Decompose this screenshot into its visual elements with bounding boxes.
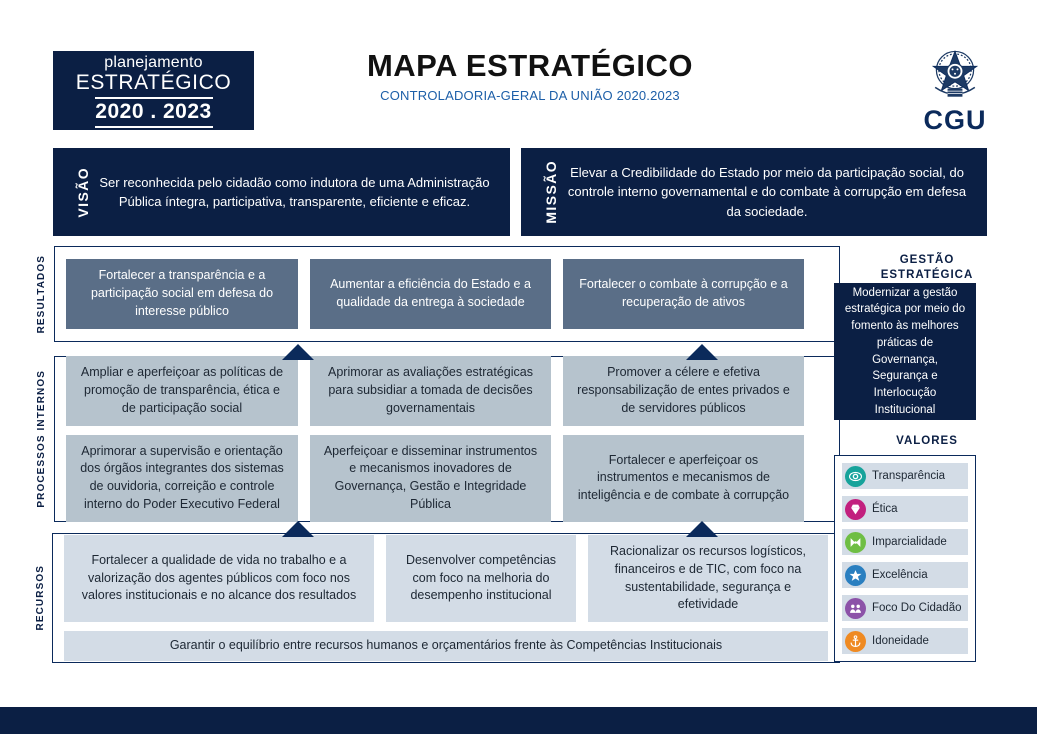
balance-icon bbox=[845, 532, 866, 553]
gestao-estrategica-text: Modernizar a gestão estratégica por meio… bbox=[843, 285, 967, 418]
valor-label: Excelência bbox=[872, 569, 928, 581]
logo-line-planejamento: planejamento bbox=[104, 55, 202, 72]
perspective-frame-processos: Ampliar e aperfeiçoar as políticas de pr… bbox=[54, 356, 840, 522]
vision-mission-band: VISÃO Ser reconhecida pelo cidadão como … bbox=[0, 148, 1037, 238]
objective-box-full-width: Garantir o equilíbrio entre recursos hum… bbox=[64, 631, 828, 661]
valor-item: Transparência bbox=[842, 463, 968, 489]
logo-rule-top bbox=[95, 97, 213, 99]
arrow-up-icon bbox=[686, 521, 718, 537]
perspective-frame-recursos: Fortalecer a qualidade de vida no trabal… bbox=[52, 533, 840, 663]
perspective-label-text: RESULTADOS bbox=[36, 255, 47, 333]
footer-bar bbox=[0, 707, 1037, 734]
perspective-frame-resultados: Fortalecer a transparência e a participa… bbox=[54, 246, 840, 342]
valores-list: TransparênciaÉticaImparcialidadeExcelênc… bbox=[834, 455, 976, 662]
gestao-estrategica-heading: GESTÃO ESTRATÉGICA bbox=[849, 253, 1005, 283]
page-subtitle: CONTROLADORIA-GERAL DA UNIÃO 2020.2023 bbox=[270, 88, 790, 103]
objective-box: Racionalizar os recursos logísticos, fin… bbox=[588, 535, 828, 622]
vision-text: Ser reconhecida pelo cidadão como induto… bbox=[91, 173, 510, 212]
objective-box: Aumentar a eficiência do Estado e a qual… bbox=[310, 259, 551, 328]
objective-box: Ampliar e aperfeiçoar as políticas de pr… bbox=[66, 356, 298, 425]
gestao-heading-line2: ESTRATÉGICA bbox=[849, 268, 1005, 283]
objective-row: Fortalecer a qualidade de vida no trabal… bbox=[64, 535, 828, 622]
mission-text: Elevar a Credibilidade do Estado por mei… bbox=[559, 163, 987, 222]
valor-item: Imparcialidade bbox=[842, 529, 968, 555]
vision-box: VISÃO Ser reconhecida pelo cidadão como … bbox=[53, 148, 510, 236]
eye-icon bbox=[845, 466, 866, 487]
page-header: planejamento ESTRATÉGICO 2020 . 2023 MAP… bbox=[0, 0, 1037, 145]
brazil-coat-of-arms-icon bbox=[924, 44, 986, 106]
objective-row: Ampliar e aperfeiçoar as políticas de pr… bbox=[66, 356, 828, 425]
vision-label: VISÃO bbox=[75, 167, 91, 218]
objective-box: Aprimorar a supervisão e orientação dos … bbox=[66, 435, 298, 522]
objective-box: Aperfeiçoar e disseminar instrumentos e … bbox=[310, 435, 551, 522]
valor-label: Ética bbox=[872, 503, 898, 515]
valor-item: Foco Do Cidadão bbox=[842, 595, 968, 621]
objective-row: Aprimorar a supervisão e orientação dos … bbox=[66, 435, 828, 522]
perspective-label-text: RECURSOS bbox=[35, 565, 46, 630]
valor-label: Transparência bbox=[872, 470, 945, 482]
objective-box: Desenvolver competências com foco na mel… bbox=[386, 535, 576, 622]
anchor-icon bbox=[845, 631, 866, 652]
mission-label: MISSÃO bbox=[543, 160, 559, 224]
perspective-recursos: RECURSOS Fortalecer a qualidade de vida … bbox=[28, 533, 840, 663]
mission-box: MISSÃO Elevar a Credibilidade do Estado … bbox=[521, 148, 987, 236]
strategic-map-page: planejamento ESTRATÉGICO 2020 . 2023 MAP… bbox=[0, 0, 1037, 734]
perspective-label-text: PROCESSOS INTERNOS bbox=[36, 370, 47, 508]
arrow-up-icon bbox=[282, 521, 314, 537]
arrow-up-icon bbox=[686, 344, 718, 360]
perspective-label-resultados: RESULTADOS bbox=[28, 246, 54, 342]
cgu-logo: CGU bbox=[896, 44, 1014, 139]
diamond-icon bbox=[845, 499, 866, 520]
logo-line-years: 2020 . 2023 bbox=[95, 101, 211, 123]
star-icon bbox=[845, 565, 866, 586]
valor-label: Imparcialidade bbox=[872, 536, 947, 548]
objective-box: Fortalecer a qualidade de vida no trabal… bbox=[64, 535, 374, 622]
logo-line-estrategico: ESTRATÉGICO bbox=[76, 72, 232, 94]
valor-label: Idoneidade bbox=[872, 635, 929, 647]
gestao-estrategica-box: Modernizar a gestão estratégica por meio… bbox=[834, 283, 976, 420]
objective-row: Fortalecer a transparência e a participa… bbox=[66, 259, 828, 328]
people-icon bbox=[845, 598, 866, 619]
objective-box: Fortalecer a transparência e a participa… bbox=[66, 259, 298, 328]
valores-heading: VALORES bbox=[849, 434, 1005, 449]
valor-label: Foco Do Cidadão bbox=[872, 602, 962, 614]
perspective-resultados: RESULTADOS Fortalecer a transparência e … bbox=[28, 246, 840, 342]
objective-box: Fortalecer o combate à corrupção e a rec… bbox=[563, 259, 804, 328]
objective-box: Fortalecer e aperfeiçoar os instrumentos… bbox=[563, 435, 804, 522]
planejamento-estrategico-logo: planejamento ESTRATÉGICO 2020 . 2023 bbox=[53, 51, 254, 130]
perspective-label-processos: PROCESSOS INTERNOS bbox=[28, 356, 54, 522]
perspective-processos-internos: PROCESSOS INTERNOS Ampliar e aperfeiçoar… bbox=[28, 356, 840, 522]
valor-item: Idoneidade bbox=[842, 628, 968, 654]
cgu-wordmark: CGU bbox=[924, 107, 987, 134]
objective-box: Promover a célere e efetiva responsabili… bbox=[563, 356, 804, 425]
valor-item: Ética bbox=[842, 496, 968, 522]
page-title: MAPA ESTRATÉGICO bbox=[270, 48, 790, 84]
objective-box: Aprimorar as avaliações estratégicas par… bbox=[310, 356, 551, 425]
logo-rule-bottom bbox=[95, 126, 213, 128]
arrow-up-icon bbox=[282, 344, 314, 360]
gestao-heading-line1: GESTÃO bbox=[849, 253, 1005, 268]
perspective-label-recursos: RECURSOS bbox=[28, 533, 52, 663]
valor-item: Excelência bbox=[842, 562, 968, 588]
